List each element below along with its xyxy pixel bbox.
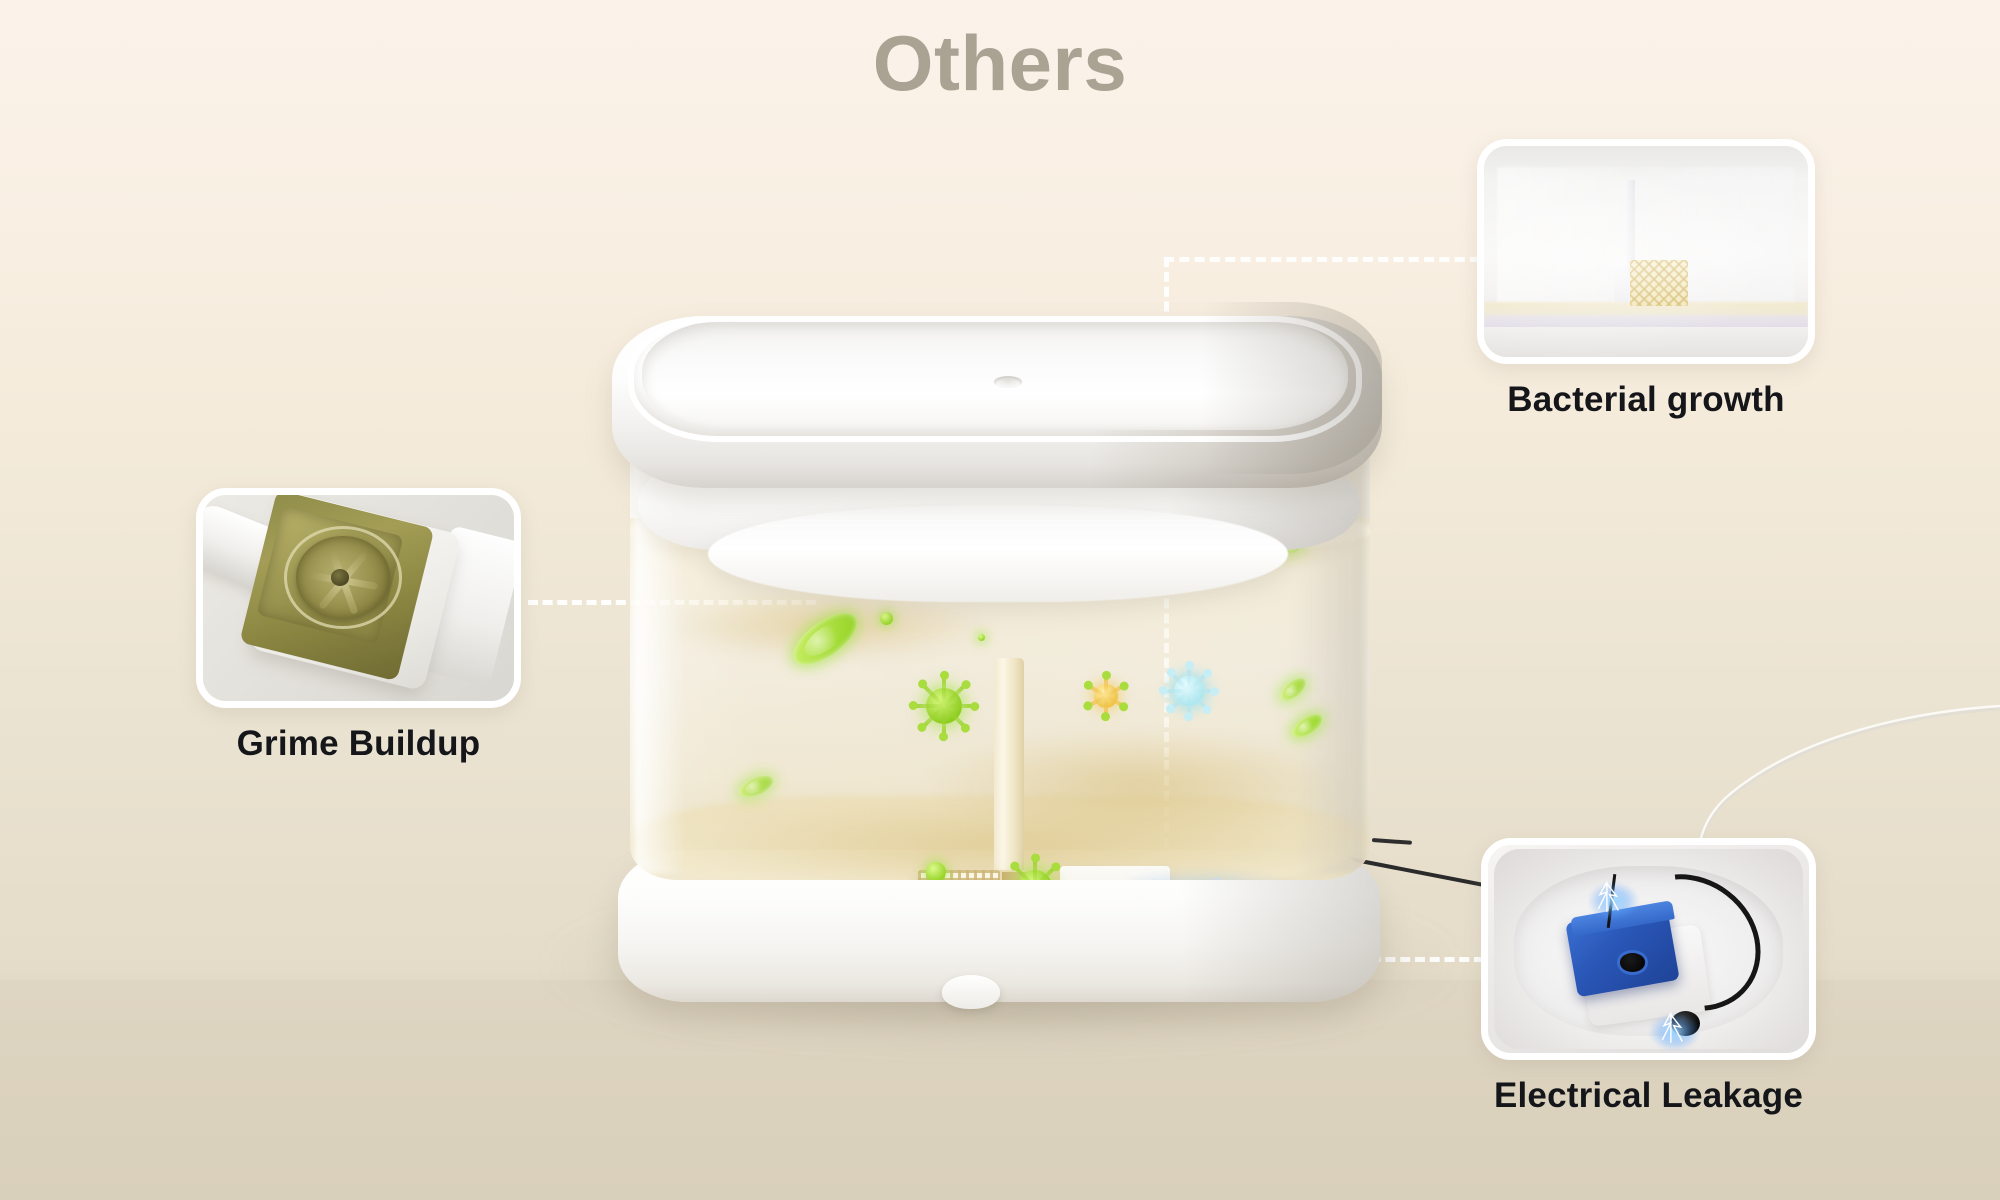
germ-virus-amber bbox=[1094, 684, 1118, 708]
germ-virus bbox=[1018, 870, 1052, 880]
virus-spikes bbox=[1086, 676, 1126, 716]
lid-shading bbox=[1202, 302, 1382, 474]
spark-bolts-bottom bbox=[1642, 1009, 1700, 1051]
callout-thumbnail-electrical-leakage[interactable] bbox=[1481, 838, 1816, 1060]
callout-bacterial-growth[interactable]: Bacterial growth bbox=[1477, 139, 1815, 420]
connector-bacterial-horizontal bbox=[1164, 257, 1480, 262]
pump-inlet bbox=[1620, 953, 1646, 972]
callout-label-grime-buildup: Grime Buildup bbox=[196, 724, 521, 764]
pump-housing bbox=[1060, 866, 1170, 880]
callout-label-electrical-leakage: Electrical Leakage bbox=[1481, 1076, 1816, 1116]
germ-dot bbox=[880, 612, 893, 625]
callout-label-bacterial-growth: Bacterial growth bbox=[1477, 380, 1815, 420]
cloudy-haze bbox=[1484, 146, 1808, 357]
impeller-hub bbox=[331, 569, 350, 585]
water-spout bbox=[994, 376, 1022, 388]
inner-bowl bbox=[708, 506, 1288, 602]
callout-thumbnail-bacterial-growth[interactable] bbox=[1477, 139, 1815, 364]
poster-canvas: Others bbox=[0, 0, 2000, 1200]
callout-grime-buildup[interactable]: Grime Buildup bbox=[196, 488, 521, 764]
germ-dot bbox=[978, 634, 985, 641]
spark-bolts-top bbox=[1578, 878, 1636, 920]
callout-electrical-leakage[interactable]: Electrical Leakage bbox=[1481, 838, 1816, 1116]
riser-tube bbox=[994, 658, 1024, 880]
callout-thumbnail-grime-buildup[interactable] bbox=[196, 488, 521, 708]
germ-virus bbox=[926, 688, 962, 724]
germ-dot bbox=[926, 862, 946, 880]
fountain-foot bbox=[942, 975, 1000, 1009]
fountain-lid bbox=[612, 316, 1382, 488]
virus-spikes bbox=[1164, 666, 1214, 716]
page-title: Others bbox=[0, 18, 2000, 109]
pet-water-fountain bbox=[612, 330, 1387, 1020]
virus-spikes bbox=[1006, 858, 1063, 880]
virus-spikes bbox=[914, 676, 974, 736]
germ-virus-cyan bbox=[1174, 676, 1204, 706]
